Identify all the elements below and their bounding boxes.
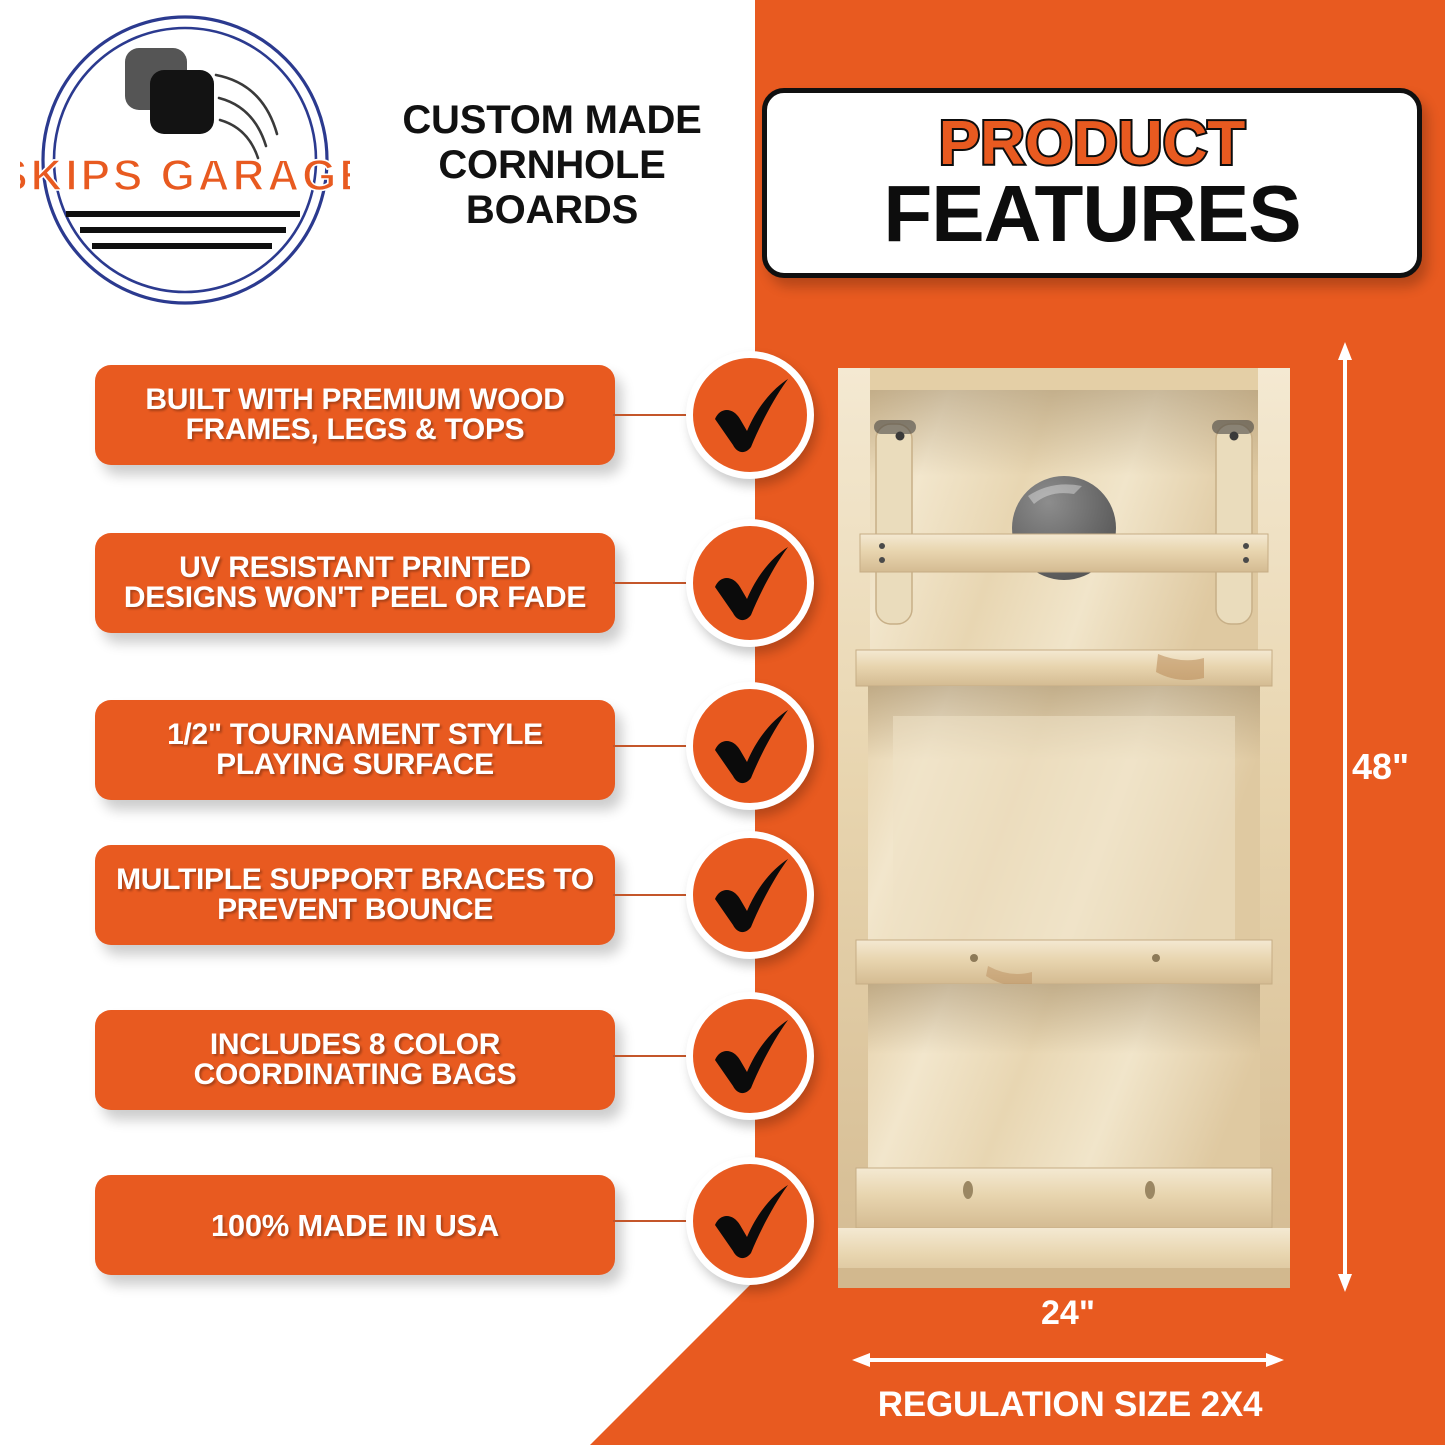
regulation-size-note: REGULATION SIZE 2X4 [830, 1385, 1310, 1425]
product-features-banner: PRODUCT FEATURES [762, 88, 1422, 278]
feature-pill[interactable]: UV RESISTANT PRINTED DESIGNS WON'T PEEL … [95, 533, 615, 633]
feature-pill-label: INCLUDES 8 COLOR COORDINATING BAGS [109, 1030, 601, 1090]
feature-pill[interactable]: 1/2" TOURNAMENT STYLE PLAYING SURFACE [95, 700, 615, 800]
feature-row: 100% MADE IN USA [0, 1175, 860, 1325]
feature-pill-label: 1/2" TOURNAMENT STYLE PLAYING SURFACE [109, 720, 601, 780]
feature-pill-label: UV RESISTANT PRINTED DESIGNS WON'T PEEL … [109, 553, 601, 613]
feature-pill[interactable]: MULTIPLE SUPPORT BRACES TO PREVENT BOUNC… [95, 845, 615, 945]
support-brace-mid-top [856, 650, 1272, 686]
feature-check-badge [686, 1157, 814, 1285]
feature-check-badge [686, 831, 814, 959]
support-brace-bottom [856, 1168, 1272, 1228]
width-dimension-label: 24" [852, 1294, 1284, 1333]
feature-check-badge [686, 992, 814, 1120]
feature-pill[interactable]: INCLUDES 8 COLOR COORDINATING BAGS [95, 1010, 615, 1110]
cornhole-board-photo [838, 368, 1290, 1288]
height-dimension-label: 48" [1352, 746, 1409, 788]
checkmark-icon [704, 369, 796, 461]
support-brace-mid-bottom [856, 940, 1272, 986]
banner-word-product: PRODUCT [939, 115, 1246, 173]
support-brace-upper [860, 534, 1268, 572]
feature-list: BUILT WITH PREMIUM WOOD FRAMES, LEGS & T… [0, 0, 860, 1445]
folding-leg-right [1212, 420, 1254, 624]
feature-check-badge [686, 519, 814, 647]
feature-pill-label: MULTIPLE SUPPORT BRACES TO PREVENT BOUNC… [109, 865, 601, 925]
height-dimension-arrow [1337, 342, 1353, 1292]
checkmark-icon [704, 700, 796, 792]
feature-row: MULTIPLE SUPPORT BRACES TO PREVENT BOUNC… [0, 845, 860, 995]
feature-pill[interactable]: BUILT WITH PREMIUM WOOD FRAMES, LEGS & T… [95, 365, 615, 465]
feature-row: UV RESISTANT PRINTED DESIGNS WON'T PEEL … [0, 533, 860, 683]
feature-row: BUILT WITH PREMIUM WOOD FRAMES, LEGS & T… [0, 365, 860, 515]
infographic-canvas: SKIPS GARAGE CUSTOM MADE CORNHOLE BOARDS… [0, 0, 1445, 1445]
feature-check-badge [686, 351, 814, 479]
feature-pill[interactable]: 100% MADE IN USA [95, 1175, 615, 1275]
banner-word-features: FEATURES [883, 176, 1300, 251]
feature-row: 1/2" TOURNAMENT STYLE PLAYING SURFACE [0, 700, 860, 850]
folding-leg-left [874, 420, 916, 624]
width-dimension-arrow [852, 1352, 1284, 1368]
feature-check-badge [686, 682, 814, 810]
feature-row: INCLUDES 8 COLOR COORDINATING BAGS [0, 1010, 860, 1160]
checkmark-icon [704, 849, 796, 941]
feature-pill-label: 100% MADE IN USA [211, 1210, 499, 1241]
checkmark-icon [704, 1175, 796, 1267]
checkmark-icon [704, 537, 796, 629]
feature-pill-label: BUILT WITH PREMIUM WOOD FRAMES, LEGS & T… [109, 385, 601, 445]
checkmark-icon [704, 1010, 796, 1102]
